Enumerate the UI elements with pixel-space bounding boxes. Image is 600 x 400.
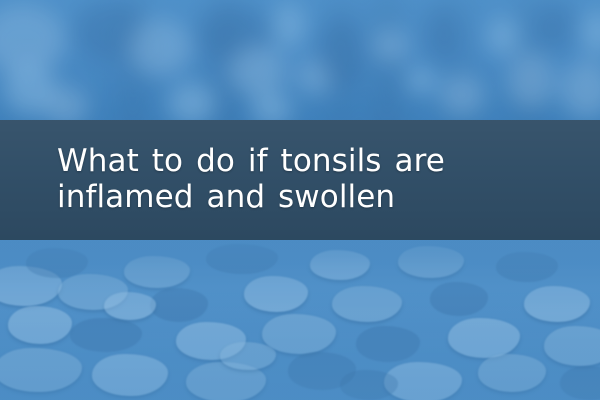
thumbnail-card: What to do if tonsils are inflamed and s…: [0, 0, 600, 400]
page-title: What to do if tonsils are inflamed and s…: [0, 143, 600, 215]
title-banner: What to do if tonsils are inflamed and s…: [0, 120, 600, 240]
